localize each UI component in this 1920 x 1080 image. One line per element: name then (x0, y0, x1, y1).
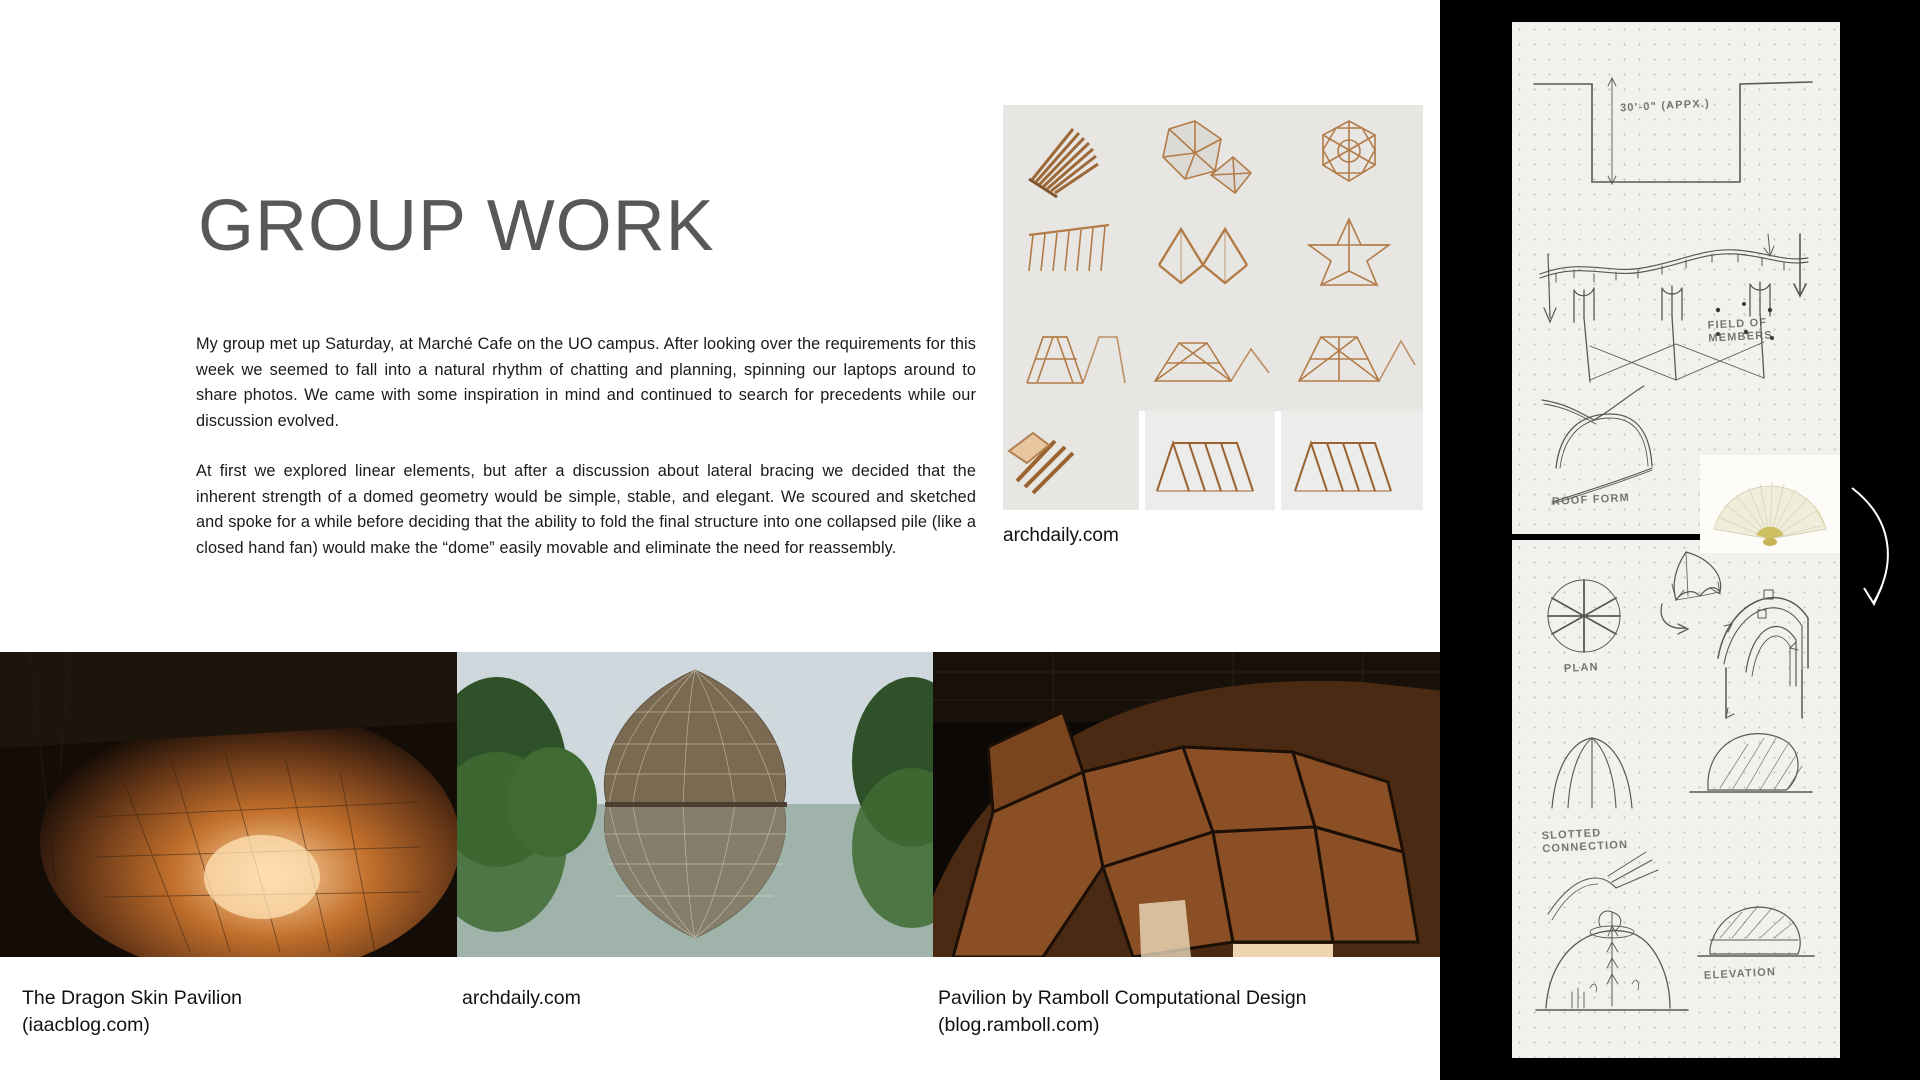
sketch-page-two: PLAN SLOTTED CONNECTION ELEVATION (1512, 540, 1840, 1058)
caption-line-1: The Dragon Skin Pavilion (22, 985, 242, 1012)
study-models-illustration (1003, 105, 1423, 411)
curved-arrow-icon (1840, 480, 1910, 620)
slide-canvas: GROUP WORK My group met up Saturday, at … (0, 0, 1920, 1080)
caption-line-1: Pavilion by Ramboll Computational Design (938, 985, 1307, 1012)
sketch-two-drawing (1512, 540, 1840, 1058)
page-title: GROUP WORK (198, 190, 715, 262)
folded-models-illustration (1003, 411, 1423, 510)
body-text-column: My group met up Saturday, at Marché Cafe… (196, 332, 976, 561)
photo-row (0, 652, 1440, 957)
dragon-skin-illustration (0, 652, 457, 957)
sketch-label-field-of-members: FIELD OF MEMBERS (1707, 316, 1773, 345)
caption-ramboll: Pavilion by Ramboll Computational Design… (938, 985, 1307, 1039)
sketch-label-plan: PLAN (1564, 661, 1599, 676)
hand-fan-illustration (1700, 455, 1840, 553)
caption-bamboo-dome: archdaily.com (462, 985, 581, 1012)
caption-line-2: (blog.ramboll.com) (938, 1012, 1307, 1039)
reference-image-grid (1003, 105, 1423, 411)
slide-body: GROUP WORK My group met up Saturday, at … (0, 0, 1440, 1080)
caption-line-2: (iaacblog.com) (22, 1012, 242, 1039)
reference-grid-caption: archdaily.com (1003, 525, 1119, 547)
reference-image-strip (1003, 411, 1423, 510)
photo-bamboo-dome-pavilion (457, 652, 933, 957)
ramboll-pavilion-illustration (933, 652, 1440, 957)
hand-fan-photo (1700, 455, 1840, 553)
caption-line-1: archdaily.com (462, 985, 581, 1012)
paragraph-1: My group met up Saturday, at Marché Cafe… (196, 332, 976, 434)
photo-ramboll-pavilion (933, 652, 1440, 957)
photo-dragon-skin-pavilion (0, 652, 457, 957)
bamboo-dome-illustration (457, 652, 933, 957)
sketch-label-slotted-connection: SLOTTED CONNECTION (1541, 826, 1628, 856)
paragraph-2: At first we explored linear elements, bu… (196, 459, 976, 561)
caption-dragon-skin: The Dragon Skin Pavilion (iaacblog.com) (22, 985, 242, 1039)
